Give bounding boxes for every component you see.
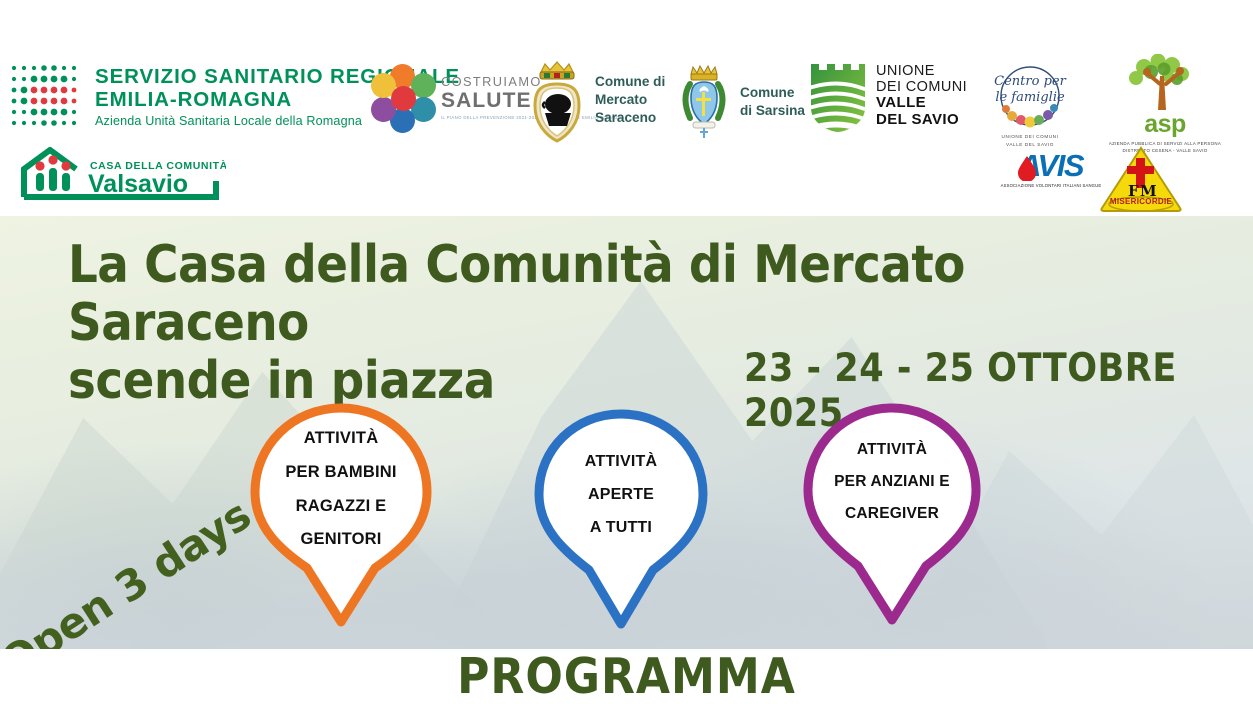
centro-script-line2: le famiglie — [990, 90, 1070, 106]
footer-band: PROGRAMMA — [0, 649, 1253, 707]
poster-root: SERVIZIO SANITARIO REGIONALE EMILIA-ROMA… — [0, 0, 1253, 707]
pin-attivita-bambini[interactable]: ATTIVITÀ PER BAMBINI RAGAZZI E GENITORI — [241, 400, 441, 630]
pin-bambini-text: ATTIVITÀ PER BAMBINI RAGAZZI E GENITORI — [241, 422, 441, 557]
salute-flower-icon — [372, 64, 436, 134]
logo-misericordie: F M MISERICORDIE — [1099, 145, 1183, 213]
centro-sub-line1: UNIONE DEI COMUNI — [984, 133, 1076, 141]
unione-line2: DEI COMUNI — [876, 79, 967, 95]
pin-bambini-line3: RAGAZZI E — [241, 490, 441, 524]
valsavio-house-icon: CASA DELLA COMUNITÀ Valsavio — [14, 147, 226, 201]
misericordie-wordmark: MISERICORDIE — [1099, 197, 1183, 206]
comune-mercato-label: Comune diMercatoSaraceno — [595, 73, 665, 127]
pin-bambini-line2: PER BAMBINI — [241, 456, 441, 490]
pin-anziani-line1: ATTIVITÀ — [792, 434, 992, 466]
mercato-saraceno-crest-icon — [527, 56, 587, 144]
ausl-dot-matrix-icon — [8, 62, 86, 132]
centro-script-line1: Centro per — [990, 74, 1070, 90]
pin-tutti-line3: A TUTTI — [521, 512, 721, 545]
pin-attivita-aperte-tutti[interactable]: ATTIVITÀ APERTE A TUTTI — [521, 406, 721, 636]
logo-asp: asp AZIENDA PUBBLICA DI SERVIZI ALLA PER… — [1089, 54, 1241, 155]
logo-centro-famiglie: Centro per le famiglie UNIONE DEI COMUNI… — [984, 64, 1076, 149]
pin-tutti-line2: APERTE — [521, 479, 721, 512]
avis-blood-drop-icon — [1017, 155, 1037, 181]
headline-line1: La Casa della Comunità di Mercato Sarace… — [68, 235, 965, 353]
logo-unione-comuni: UNIONE DEI COMUNI VALLE DEL SAVIO — [809, 58, 967, 134]
pin-anziani-text: ATTIVITÀ PER ANZIANI E CAREGIVER — [792, 434, 992, 529]
unione-line4: DEL SAVIO — [876, 112, 967, 129]
hero-artwork: La Casa della Comunità di Mercato Sarace… — [0, 216, 1253, 649]
logo-comune-mercato-saraceno: Comune diMercatoSaraceno — [527, 56, 665, 144]
pin-bambini-line1: ATTIVITÀ — [241, 422, 441, 456]
unione-wordmark: UNIONE DEI COMUNI VALLE DEL SAVIO — [876, 63, 967, 129]
logo-casa-comunita-valsavio: CASA DELLA COMUNITÀ Valsavio — [14, 147, 226, 201]
unione-line1: UNIONE — [876, 63, 967, 79]
asp-tree-icon — [1124, 54, 1206, 112]
logo-avis: AVIS ASSOCIAZIONE VOLONTARI ITALIANI SAN… — [986, 150, 1116, 188]
pin-tutti-text: ATTIVITÀ APERTE A TUTTI — [521, 446, 721, 544]
avis-sub: ASSOCIAZIONE VOLONTARI ITALIANI SANGUE — [986, 183, 1116, 188]
unione-line3: VALLE — [876, 95, 967, 112]
asp-wordmark: asp — [1089, 112, 1241, 137]
logo-comune-sarsina: Comunedi Sarsina — [676, 62, 805, 142]
logo-band: SERVIZIO SANITARIO REGIONALE EMILIA-ROMA… — [0, 0, 1253, 216]
svg-text:Valsavio: Valsavio — [88, 170, 188, 198]
pin-attivita-anziani-caregiver[interactable]: ATTIVITÀ PER ANZIANI E CAREGIVER — [792, 400, 992, 630]
unione-shield-icon — [809, 58, 867, 134]
comune-sarsina-label: Comunedi Sarsina — [740, 84, 805, 120]
sarsina-crest-icon — [676, 62, 732, 142]
pin-anziani-line3: CAREGIVER — [792, 498, 992, 530]
centro-famiglie-circle-icon: Centro per le famiglie — [990, 64, 1070, 130]
pin-tutti-line1: ATTIVITÀ — [521, 446, 721, 479]
programma-title: PROGRAMMA — [0, 648, 1253, 705]
pin-anziani-line2: PER ANZIANI E — [792, 466, 992, 498]
pin-bambini-line4: GENITORI — [241, 523, 441, 557]
